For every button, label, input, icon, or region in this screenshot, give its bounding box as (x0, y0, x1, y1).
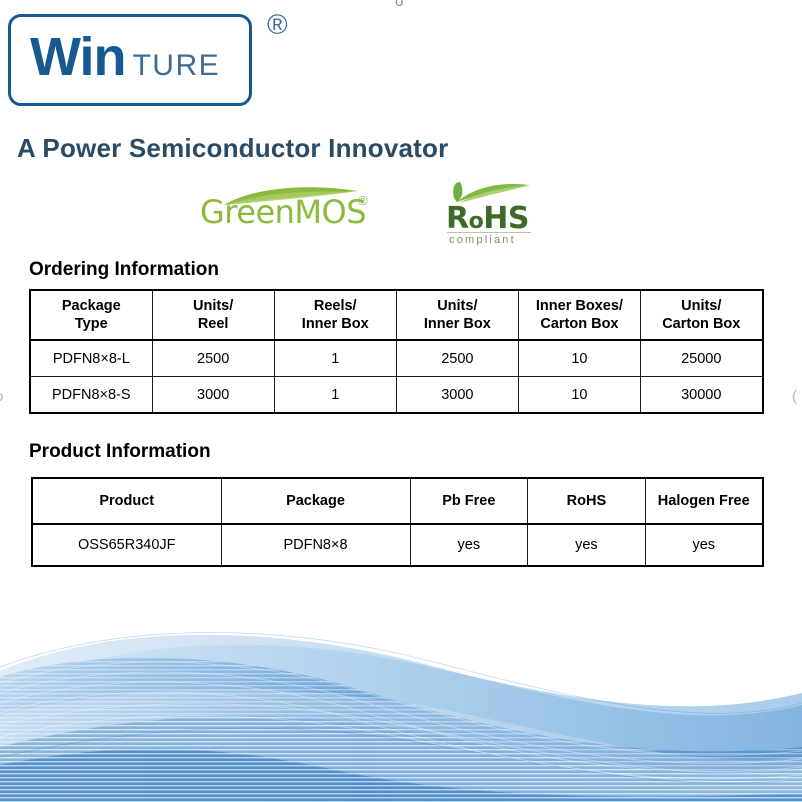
registered-trademark-icon: ® (267, 11, 288, 39)
header-line-1: Units/ (437, 298, 477, 314)
cell-inner-boxes-per-carton-box: 10 (518, 377, 640, 414)
rohs-sublabel: compliant (449, 235, 516, 246)
cell-package-type: PDFN8×8-L (30, 340, 152, 377)
table-row: PDFN8×8-S 3000 1 3000 10 30000 (30, 377, 763, 414)
greenmos-logo: GreenMOS ® (200, 186, 385, 238)
cell-inner-boxes-per-carton-box: 10 (518, 340, 640, 377)
company-logo: Win TURE ® (8, 14, 308, 122)
column-header-halogen-free: Halogen Free (645, 478, 763, 524)
header-line-2: Type (75, 316, 108, 332)
header-line-1: Units/ (193, 298, 233, 314)
rohs-label-hs: HS (483, 201, 529, 236)
header-line-1: Package (62, 298, 121, 314)
logo-wordmark: Win TURE (30, 30, 220, 84)
column-header-rohs: RoHS (528, 478, 646, 524)
table-header-row: Product Package Pb Free RoHS Halogen Fre… (32, 478, 763, 524)
cell-rohs: yes (528, 524, 646, 566)
certification-logos: GreenMOS ® RoHS compliant (0, 178, 802, 258)
table-row: PDFN8×8-L 2500 1 2500 10 25000 (30, 340, 763, 377)
header-line-1: Reels/ (314, 298, 357, 314)
decorative-wave-graphic (0, 597, 802, 802)
header-line-2: Carton Box (540, 316, 618, 332)
cell-units-per-carton-box: 30000 (640, 377, 762, 414)
column-header-pb-free: Pb Free (410, 478, 528, 524)
table-header-row: Package Type Units/ Reel Reels/ Inner Bo… (30, 290, 763, 340)
header-line-2: Inner Box (302, 316, 369, 332)
greenmos-label: GreenMOS (200, 196, 366, 228)
logo-word-ture: TURE (132, 51, 220, 81)
logo-word-win: Win (30, 30, 125, 84)
section-heading-product: Product Information (29, 441, 211, 463)
cell-package-type: PDFN8×8-S (30, 377, 152, 414)
ordering-information-table: Package Type Units/ Reel Reels/ Inner Bo… (29, 289, 764, 414)
column-header-units-per-reel: Units/ Reel (152, 290, 274, 340)
top-edge-scan-artifact: o (395, 0, 403, 10)
column-header-product: Product (32, 478, 221, 524)
column-header-package-type: Package Type (30, 290, 152, 340)
table-row: OSS65R340JF PDFN8×8 yes yes yes (32, 524, 763, 566)
cell-units-per-reel: 3000 (152, 377, 274, 414)
column-header-inner-boxes-per-carton-box: Inner Boxes/ Carton Box (518, 290, 640, 340)
product-information-table: Product Package Pb Free RoHS Halogen Fre… (31, 477, 764, 567)
page-tagline: A Power Semiconductor Innovator (17, 133, 448, 164)
cell-units-per-inner-box: 3000 (396, 377, 518, 414)
cell-units-per-carton-box: 25000 (640, 340, 762, 377)
column-header-units-per-carton-box: Units/ Carton Box (640, 290, 762, 340)
section-heading-ordering: Ordering Information (29, 259, 219, 281)
rohs-logo: RoHS compliant (443, 178, 535, 250)
column-header-units-per-inner-box: Units/ Inner Box (396, 290, 518, 340)
left-edge-scan-artifact: o (0, 388, 3, 405)
cell-reels-per-inner-box: 1 (274, 377, 396, 414)
column-header-package: Package (221, 478, 410, 524)
cell-halogen-free: yes (645, 524, 763, 566)
cell-units-per-reel: 2500 (152, 340, 274, 377)
rohs-divider (447, 232, 531, 233)
right-edge-scan-artifact: ( (792, 388, 797, 405)
rohs-label-o: o (469, 209, 484, 234)
greenmos-registered-icon: ® (358, 194, 368, 207)
cell-pb-free: yes (410, 524, 528, 566)
header-line-2: Carton Box (662, 316, 740, 332)
cell-package: PDFN8×8 (221, 524, 410, 566)
rohs-label-r: R (446, 201, 469, 236)
header-line-1: Inner Boxes/ (536, 298, 623, 314)
header-line-2: Reel (198, 316, 229, 332)
column-header-reels-per-inner-box: Reels/ Inner Box (274, 290, 396, 340)
rohs-label: RoHS (446, 204, 529, 234)
header-line-1: Units/ (681, 298, 721, 314)
header-line-2: Inner Box (424, 316, 491, 332)
cell-reels-per-inner-box: 1 (274, 340, 396, 377)
cell-units-per-inner-box: 2500 (396, 340, 518, 377)
cell-product: OSS65R340JF (32, 524, 221, 566)
